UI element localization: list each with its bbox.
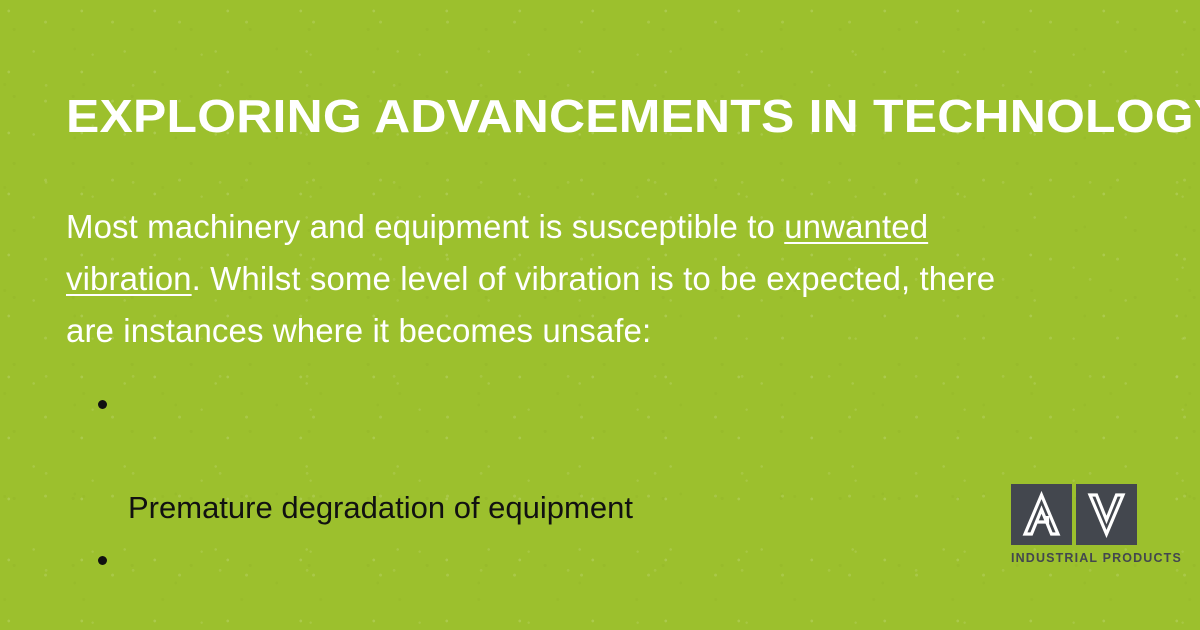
list-item: Premature degradation of equipment	[92, 378, 972, 534]
intro-text-before-link: Most machinery and equipment is suscepti…	[66, 208, 784, 245]
list-item-label: Premature degradation of equipment	[128, 490, 633, 525]
list-item: Health hazards e.g. hand-arm vibration a…	[92, 534, 972, 630]
page-title: Exploring Advancements in Technology	[66, 92, 1200, 140]
logo-marks	[1011, 484, 1147, 545]
bullet-dot-icon	[98, 556, 107, 565]
hazards-list: Premature degradation of equipment Healt…	[92, 378, 972, 630]
slide-content: Exploring Advancements in Technology Mos…	[0, 0, 1200, 630]
av-industrial-products-logo: INDUSTRIAL PRODUCTS	[1011, 484, 1147, 565]
bullet-dot-icon	[98, 400, 107, 409]
slide-canvas: Exploring Advancements in Technology Mos…	[0, 0, 1200, 630]
intro-text-after-link: . Whilst some level of vibration is to b…	[66, 260, 995, 349]
logo-letter-v-icon	[1076, 484, 1137, 545]
logo-letter-a-icon	[1011, 484, 1072, 545]
intro-paragraph: Most machinery and equipment is suscepti…	[66, 201, 1051, 357]
logo-wordmark: INDUSTRIAL PRODUCTS	[1011, 551, 1147, 565]
